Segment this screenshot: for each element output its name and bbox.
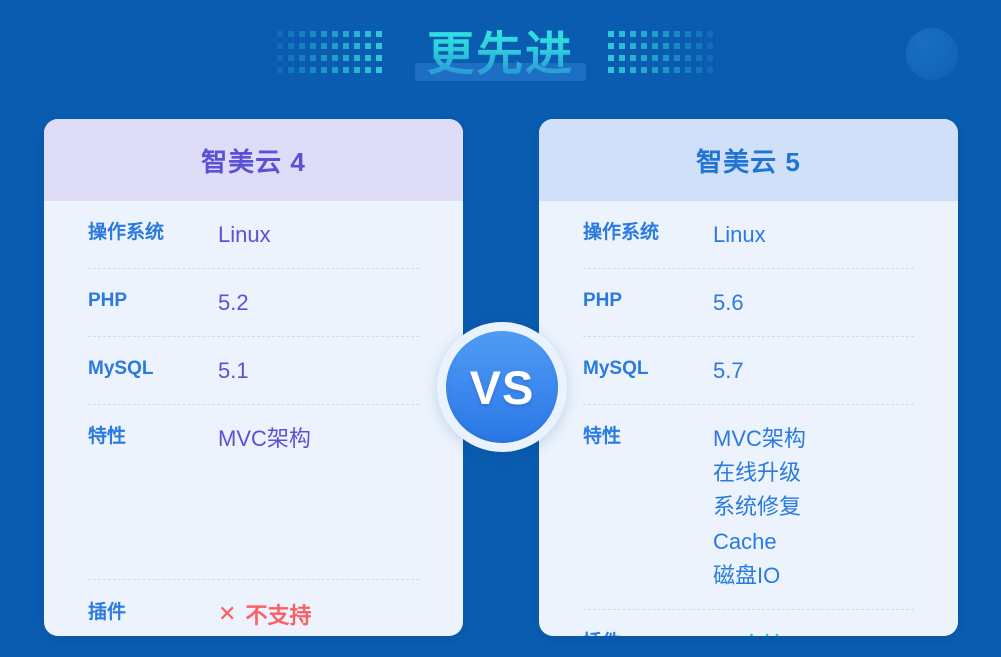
table-row: MySQL 5.7: [583, 337, 914, 405]
comparison-card-left: 智美云 4 操作系统 Linux PHP 5.2 MySQL 5.1 特性 MV…: [44, 119, 463, 636]
row-label: MySQL: [583, 354, 713, 383]
row-label: 插件: [88, 598, 218, 627]
feature-item: 系统修复: [713, 490, 806, 524]
plugin-status-text: 不支持: [245, 598, 311, 630]
row-value: 5.1: [218, 354, 249, 388]
plugin-status-text: 支持: [740, 628, 784, 636]
table-row: 操作系统 Linux: [583, 201, 914, 269]
row-value: Linux: [713, 218, 766, 252]
cross-icon: ✕: [218, 603, 236, 625]
feature-item: 在线升级: [713, 456, 806, 490]
feature-list: MVC架构在线升级系统修复Cache磁盘IO: [713, 422, 806, 592]
check-icon: ✔: [713, 633, 731, 636]
page-header: 更先进: [0, 0, 1001, 112]
table-row: MySQL 5.1: [88, 337, 419, 405]
table-row: 操作系统 Linux: [88, 201, 419, 269]
versus-badge-inner: VS: [446, 331, 558, 443]
page-title-text: 更先进: [423, 30, 578, 83]
page-title: 更先进: [415, 30, 586, 83]
status-badge: ✔ 支持: [713, 628, 784, 636]
comparison-card-right: 智美云 5 操作系统 Linux PHP 5.6 MySQL 5.7 特性 MV…: [539, 119, 958, 636]
row-label: 操作系统: [583, 218, 713, 247]
card-body-left: 操作系统 Linux PHP 5.2 MySQL 5.1 特性 MVC架构 插件…: [44, 201, 463, 636]
row-value: Linux: [218, 218, 271, 252]
row-value: 5.2: [218, 286, 249, 320]
dot-pattern-left-icon: [277, 31, 393, 81]
feature-item: MVC架构: [713, 422, 806, 456]
card-title-left: 智美云 4: [201, 142, 306, 179]
row-label: PHP: [583, 286, 713, 315]
row-label: 特性: [583, 422, 713, 451]
card-body-right: 操作系统 Linux PHP 5.6 MySQL 5.7 特性 MVC架构在线升…: [539, 201, 958, 636]
table-row-plugin: 插件 ✕ 不支持: [88, 580, 419, 636]
card-title-right: 智美云 5: [696, 142, 801, 179]
row-label: MySQL: [88, 354, 218, 383]
table-row-features: 特性 MVC架构: [88, 405, 419, 580]
row-label: 操作系统: [88, 218, 218, 247]
row-label: 插件: [583, 628, 713, 636]
versus-label: VS: [470, 364, 535, 411]
table-row-plugin: 插件 ✔ 支持: [583, 610, 914, 636]
table-row: PHP 5.2: [88, 269, 419, 337]
versus-badge: VS: [437, 322, 567, 452]
feature-item: MVC架构: [218, 422, 311, 456]
card-header-right: 智美云 5: [539, 119, 958, 201]
status-badge: ✕ 不支持: [218, 598, 311, 630]
table-row-features: 特性 MVC架构在线升级系统修复Cache磁盘IO: [583, 405, 914, 609]
row-value: 5.6: [713, 286, 744, 320]
card-header-left: 智美云 4: [44, 119, 463, 201]
row-label: PHP: [88, 286, 218, 315]
feature-item: 磁盘IO: [713, 559, 806, 593]
feature-item: Cache: [713, 525, 806, 559]
row-value: 5.7: [713, 354, 744, 388]
table-row: PHP 5.6: [583, 269, 914, 337]
dot-pattern-right-icon: [608, 31, 724, 81]
row-label: 特性: [88, 422, 218, 451]
feature-list: MVC架构: [218, 422, 311, 456]
